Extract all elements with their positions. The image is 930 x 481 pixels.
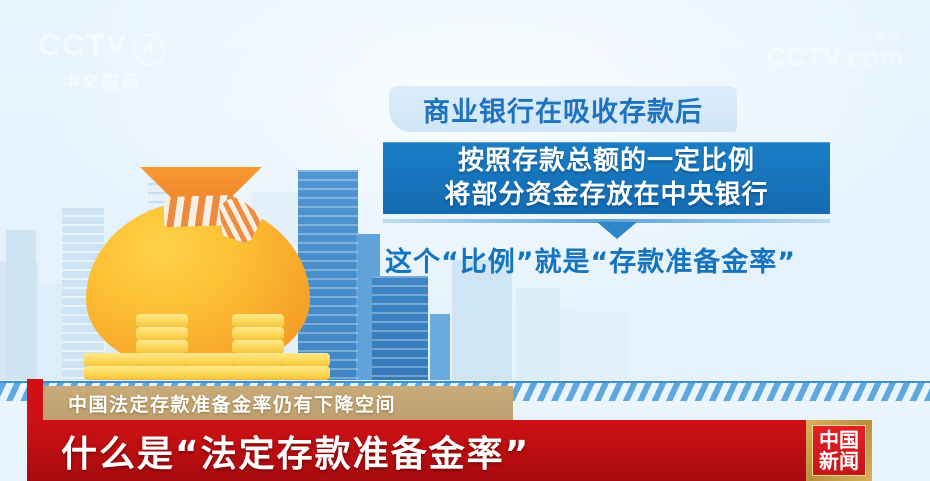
coin	[136, 314, 188, 328]
callout-intro-text: 商业银行在吸收存款后	[423, 90, 703, 129]
coin	[184, 353, 236, 367]
lower-third-subheadline-band: 中国法定存款准备金率仍有下降空间	[43, 386, 513, 420]
chevron-down-icon	[597, 222, 637, 239]
site-watermark: CCTV.com 央视网	[767, 42, 904, 73]
lower-third-headline-band: 什么是“法定存款准备金率”	[27, 420, 872, 481]
channel-watermark-brand: CCTV 4	[39, 29, 166, 66]
program-badge: 中国 新闻	[806, 420, 872, 481]
coin	[232, 353, 284, 367]
coin-stack-2	[136, 315, 188, 380]
coin	[280, 353, 330, 367]
coin	[232, 314, 284, 328]
coin	[232, 340, 284, 354]
program-badge-line1: 中国	[819, 430, 859, 451]
building-pale-2	[6, 230, 36, 380]
callout-conclusion: 这个“比例”就是“存款准备金率”	[385, 240, 855, 278]
coin	[232, 327, 284, 341]
coin-stack-4	[232, 315, 284, 380]
coin-stack-1	[84, 354, 142, 380]
headline-text: 什么是“法定存款准备金率”	[61, 425, 530, 477]
coin	[136, 340, 188, 354]
program-badge-inner: 中国 新闻	[812, 425, 866, 476]
coin	[184, 366, 236, 380]
coin	[84, 366, 142, 380]
coin-stack-5	[280, 354, 330, 380]
channel-number-icon: 4	[133, 34, 165, 66]
site-watermark-text: CCTV.com	[767, 42, 904, 73]
building-pale-12	[640, 326, 694, 380]
building-pale-11	[560, 310, 630, 380]
building-pale-10	[516, 288, 560, 380]
channel-watermark-brand-text: CCTV	[39, 29, 129, 63]
window-texture-2	[372, 276, 428, 380]
program-badge-line2: 新闻	[819, 451, 859, 472]
coin	[136, 366, 188, 380]
coin	[232, 366, 284, 380]
building-pale-3	[38, 284, 64, 380]
callout-conclusion-text: 这个“比例”就是“存款准备金率”	[385, 240, 796, 279]
site-watermark-cn: 央视网	[860, 28, 902, 45]
coin-stack-3	[184, 354, 236, 380]
coin-stacks	[84, 316, 324, 380]
broadcast-screenshot: 商业银行在吸收存款后 按照存款总额的一定比例 将部分资金存放在中央银行 这个“比…	[0, 0, 930, 481]
callout-highlight-box: 按照存款总额的一定比例 将部分资金存放在中央银行	[383, 142, 830, 214]
coin	[136, 327, 188, 341]
callout-box-line1: 按照存款总额的一定比例	[458, 144, 755, 178]
coin	[84, 353, 142, 367]
callout-intro: 商业银行在吸收存款后	[389, 86, 737, 132]
coin	[136, 353, 188, 367]
building-blue-4	[430, 314, 450, 380]
callout-box-line2: 将部分资金存放在中央银行	[444, 178, 768, 212]
subheadline-text: 中国法定存款准备金率仍有下降空间	[68, 390, 396, 417]
channel-watermark: CCTV 4 中文国际	[36, 32, 168, 90]
channel-watermark-subtitle: 中文国际	[62, 68, 142, 93]
coin	[280, 366, 330, 380]
